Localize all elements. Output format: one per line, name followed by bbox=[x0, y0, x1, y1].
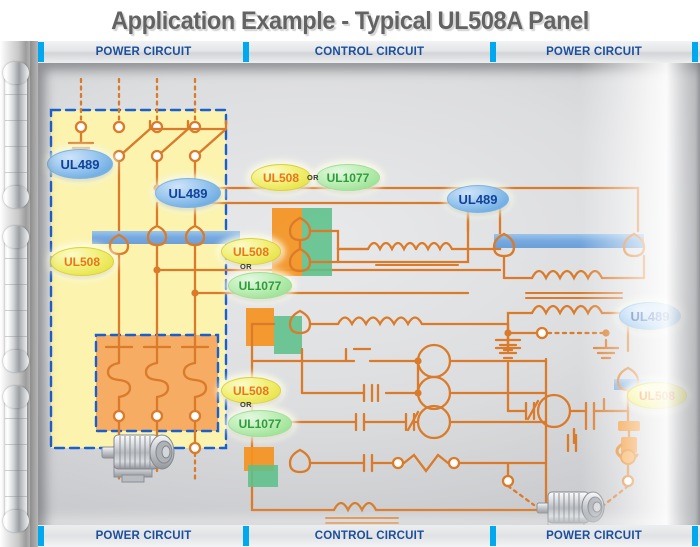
hinge-icon-middle bbox=[5, 233, 27, 365]
badge-label: UL489 bbox=[60, 157, 99, 172]
page-title: Application Example - Typical UL508A Pan… bbox=[21, 2, 679, 40]
badge-label: UL508 bbox=[233, 245, 269, 259]
hinge-icon-bottom bbox=[5, 393, 27, 525]
divider-icon-f3 bbox=[692, 526, 698, 546]
footer-label-control: CONTROL CIRCUIT bbox=[249, 525, 490, 547]
badge-ul508-right-contactor: UL508 bbox=[627, 382, 687, 409]
panel-interior: UL489UL489UL508UL508UL1077UL508UL1077UL5… bbox=[38, 63, 700, 525]
badge-label: UL489 bbox=[630, 309, 669, 324]
enclosure-left-frame bbox=[0, 41, 38, 547]
badge-label: UL508 bbox=[263, 171, 299, 185]
badge-ul508-control-mid: UL508 bbox=[221, 238, 281, 265]
badge-ul489-right-breaker: UL489 bbox=[447, 185, 509, 213]
footer-label-power-right: POWER CIRCUIT bbox=[496, 525, 692, 547]
or-separator-or-control-top: OR bbox=[307, 173, 319, 182]
or-separator-or-control-low: OR bbox=[240, 400, 252, 409]
hinge-icon-top bbox=[5, 69, 27, 201]
badge-ul1077-control-mid: UL1077 bbox=[228, 272, 292, 299]
frame-inner-edge bbox=[30, 41, 38, 547]
badge-ul489-branch-breaker: UL489 bbox=[155, 178, 221, 208]
badge-ul1077-control-top: UL1077 bbox=[316, 164, 380, 191]
badge-label: UL508 bbox=[233, 384, 269, 398]
badge-label: UL508 bbox=[64, 255, 100, 269]
badge-label: UL489 bbox=[458, 192, 497, 207]
or-separator-or-control-mid: OR bbox=[240, 262, 252, 271]
motor-right-icon bbox=[535, 485, 625, 525]
badge-ul489-right-lower: UL489 bbox=[619, 302, 681, 330]
badge-ul1077-control-low: UL1077 bbox=[228, 410, 292, 437]
badge-label: UL1077 bbox=[327, 171, 370, 185]
header-label-power-left: POWER CIRCUIT bbox=[44, 41, 243, 63]
badge-ul508-overload-block: UL508 bbox=[50, 247, 114, 276]
ul508a-panel-diagram: Application Example - Typical UL508A Pan… bbox=[0, 0, 700, 547]
enclosure: POWER CIRCUIT CONTROL CIRCUIT POWER CIRC… bbox=[0, 41, 700, 547]
badge-ul508-control-top: UL508 bbox=[251, 164, 311, 191]
footer-label-power-left: POWER CIRCUIT bbox=[44, 525, 243, 547]
divider-icon-h3 bbox=[692, 42, 698, 62]
motor-left-icon bbox=[100, 425, 196, 497]
badge-label: UL508 bbox=[639, 389, 675, 403]
badge-label: UL489 bbox=[168, 186, 207, 201]
header-label-power-right: POWER CIRCUIT bbox=[496, 41, 692, 63]
badge-label: UL1077 bbox=[239, 417, 282, 431]
badge-label: UL1077 bbox=[239, 279, 282, 293]
badge-ul489-main-disconnect: UL489 bbox=[47, 149, 113, 179]
header-label-control: CONTROL CIRCUIT bbox=[249, 41, 490, 63]
header-strip: POWER CIRCUIT CONTROL CIRCUIT POWER CIRC… bbox=[38, 41, 700, 63]
footer-strip: POWER CIRCUIT CONTROL CIRCUIT POWER CIRC… bbox=[38, 525, 700, 547]
